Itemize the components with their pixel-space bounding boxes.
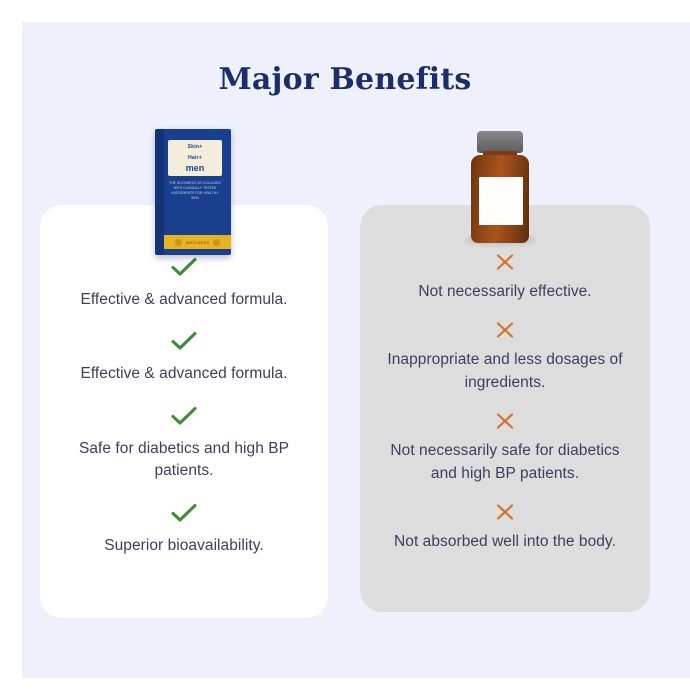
check-icon [60,331,308,351]
box-label-line-3: men [168,163,222,173]
list-item: Not absorbed well into the body. [380,503,630,553]
box-band-label: WELLNESS [186,240,209,245]
box-bottom-band: WELLNESS [164,235,231,249]
cross-icon [380,321,630,339]
comparison-infographic: Major Benefits Effective & advanced form… [0,0,690,700]
list-item-label: Not necessarily effective. [380,281,630,303]
list-item-label: Superior bioavailability. [60,535,308,557]
list-item-label: Not necessarily safe for diabetics and h… [380,440,630,485]
list-item-label: Inappropriate and less dosages of ingred… [380,349,630,394]
benefits-list-negative: Not necessarily effective. Inappropriate… [360,253,650,572]
box-side-panel [155,129,164,255]
list-item-label: Not absorbed well into the body. [380,531,630,553]
list-item-label: Effective & advanced formula. [60,363,308,385]
benefits-card-negative: Not necessarily effective. Inappropriate… [360,205,650,612]
list-item: Effective & advanced formula. [60,331,308,385]
cross-icon [380,503,630,521]
list-item: Effective & advanced formula. [60,257,308,311]
supplement-box-image: Skin+ Hair+ men THE GOODNESS OF COLLAGEN… [155,129,231,255]
list-item: Not necessarily safe for diabetics and h… [380,412,630,485]
bottle-label [479,177,523,225]
page-title: Major Benefits [0,62,690,97]
cross-icon [380,253,630,271]
box-band-dot-right [213,239,220,246]
benefits-list-positive: Effective & advanced formula. Effective … [40,257,328,577]
list-item-label: Safe for diabetics and high BP patients. [60,438,308,483]
check-icon [60,503,308,523]
box-band-dot-left [175,239,182,246]
list-item: Inappropriate and less dosages of ingred… [380,321,630,394]
bottle-cap [477,131,523,153]
list-item-label: Effective & advanced formula. [60,289,308,311]
box-body-copy: THE GOODNESS OF COLLAGEN WITH CLINICALLY… [168,181,222,201]
cross-icon [380,412,630,430]
list-item: Safe for diabetics and high BP patients. [60,406,308,483]
list-item: Superior bioavailability. [60,503,308,557]
check-icon [60,406,308,426]
benefits-card-positive: Effective & advanced formula. Effective … [40,205,328,618]
box-label-line-1: Skin+ [168,143,222,151]
pill-bottle-image [469,131,531,243]
box-front-label: Skin+ Hair+ men [168,140,222,176]
check-icon [60,257,308,277]
list-item: Not necessarily effective. [380,253,630,303]
box-label-line-2: Hair+ [168,154,222,162]
